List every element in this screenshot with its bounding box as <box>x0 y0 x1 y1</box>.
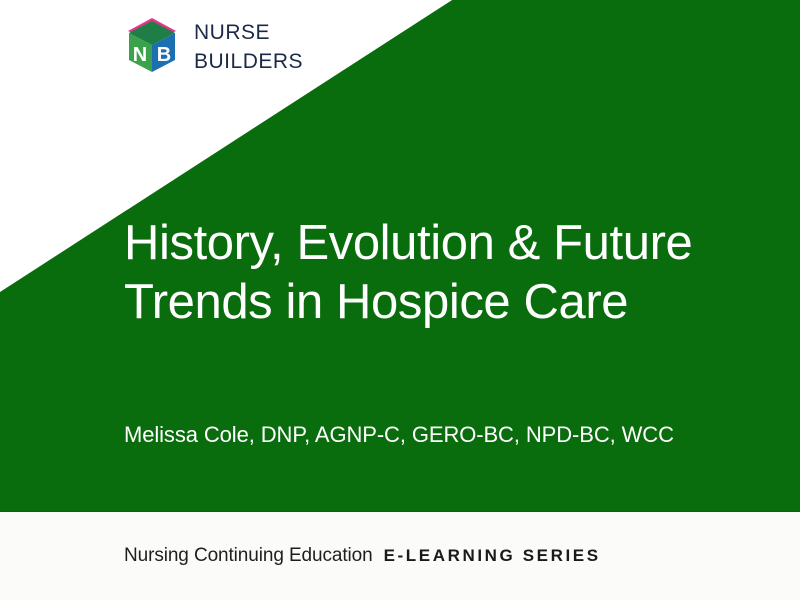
page-title: History, Evolution & Future Trends in Ho… <box>124 214 764 332</box>
footer-band: Nursing Continuing Education E-LEARNING … <box>0 512 800 600</box>
nurse-builders-cube-logo-icon: N B <box>124 16 180 74</box>
footer-series-label: E-LEARNING SERIES <box>384 546 601 566</box>
footer-content: Nursing Continuing Education E-LEARNING … <box>124 545 601 567</box>
wordmark-line-nurse: Nurse <box>194 16 303 45</box>
wordmark-line-builders: Builders <box>194 45 303 74</box>
footer-program-label: Nursing Continuing Education <box>124 545 373 567</box>
svg-text:B: B <box>157 44 171 66</box>
brand-wordmark: Nurse Builders <box>194 16 303 74</box>
svg-text:N: N <box>133 44 147 66</box>
brand-logo: N B Nurse Builders <box>124 16 303 74</box>
title-slide: N B Nurse Builders History, Evolution & … <box>0 0 800 600</box>
author-credentials: Melissa Cole, DNP, AGNP-C, GERO-BC, NPD-… <box>124 422 764 448</box>
